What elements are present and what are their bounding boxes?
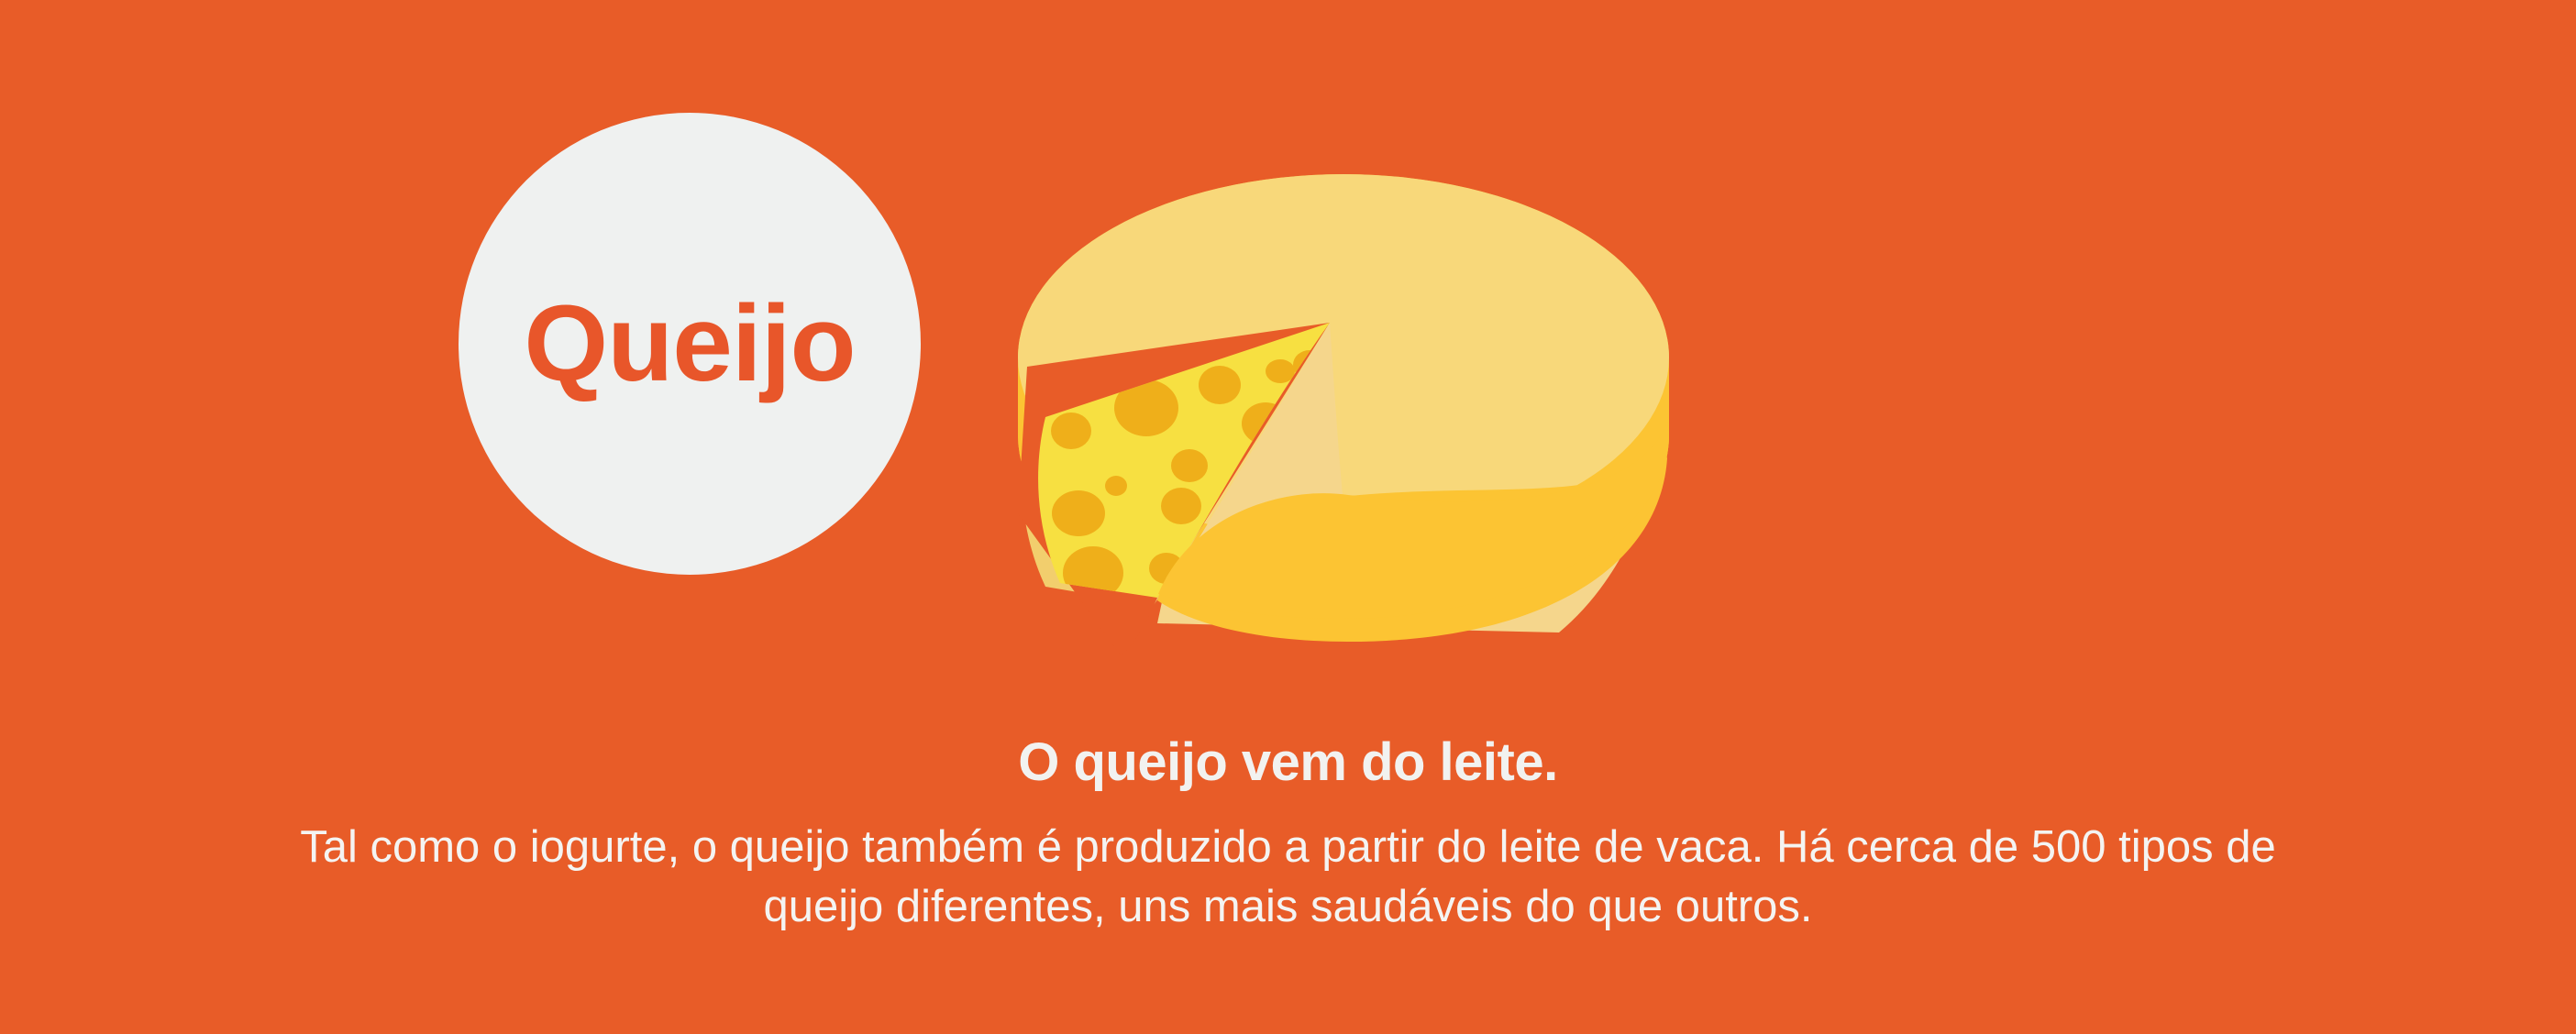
- cheese-hole: [1105, 476, 1127, 496]
- cheese-hole: [1199, 366, 1241, 404]
- cheese-hole: [1161, 488, 1201, 524]
- caption-block: O queijo vem do leite. Tal como o iogurt…: [0, 733, 2576, 937]
- cheese-hole: [1052, 490, 1105, 536]
- hero-illustration-area: Queijo: [0, 0, 2576, 724]
- cheese-hole: [1051, 412, 1091, 449]
- caption-body: Tal como o iogurte, o queijo também é pr…: [252, 818, 2325, 937]
- hero-svg: [0, 0, 2576, 724]
- caption-heading: O queijo vem do leite.: [0, 733, 2576, 792]
- cheese-hole: [1266, 359, 1295, 383]
- cheese-hole: [1171, 449, 1208, 482]
- cheese-wheel-group: [1018, 174, 1669, 655]
- cheese-info-card: Queijo O queijo vem do leite. Tal como o…: [0, 0, 2576, 1034]
- badge-label: Queijo: [459, 275, 921, 412]
